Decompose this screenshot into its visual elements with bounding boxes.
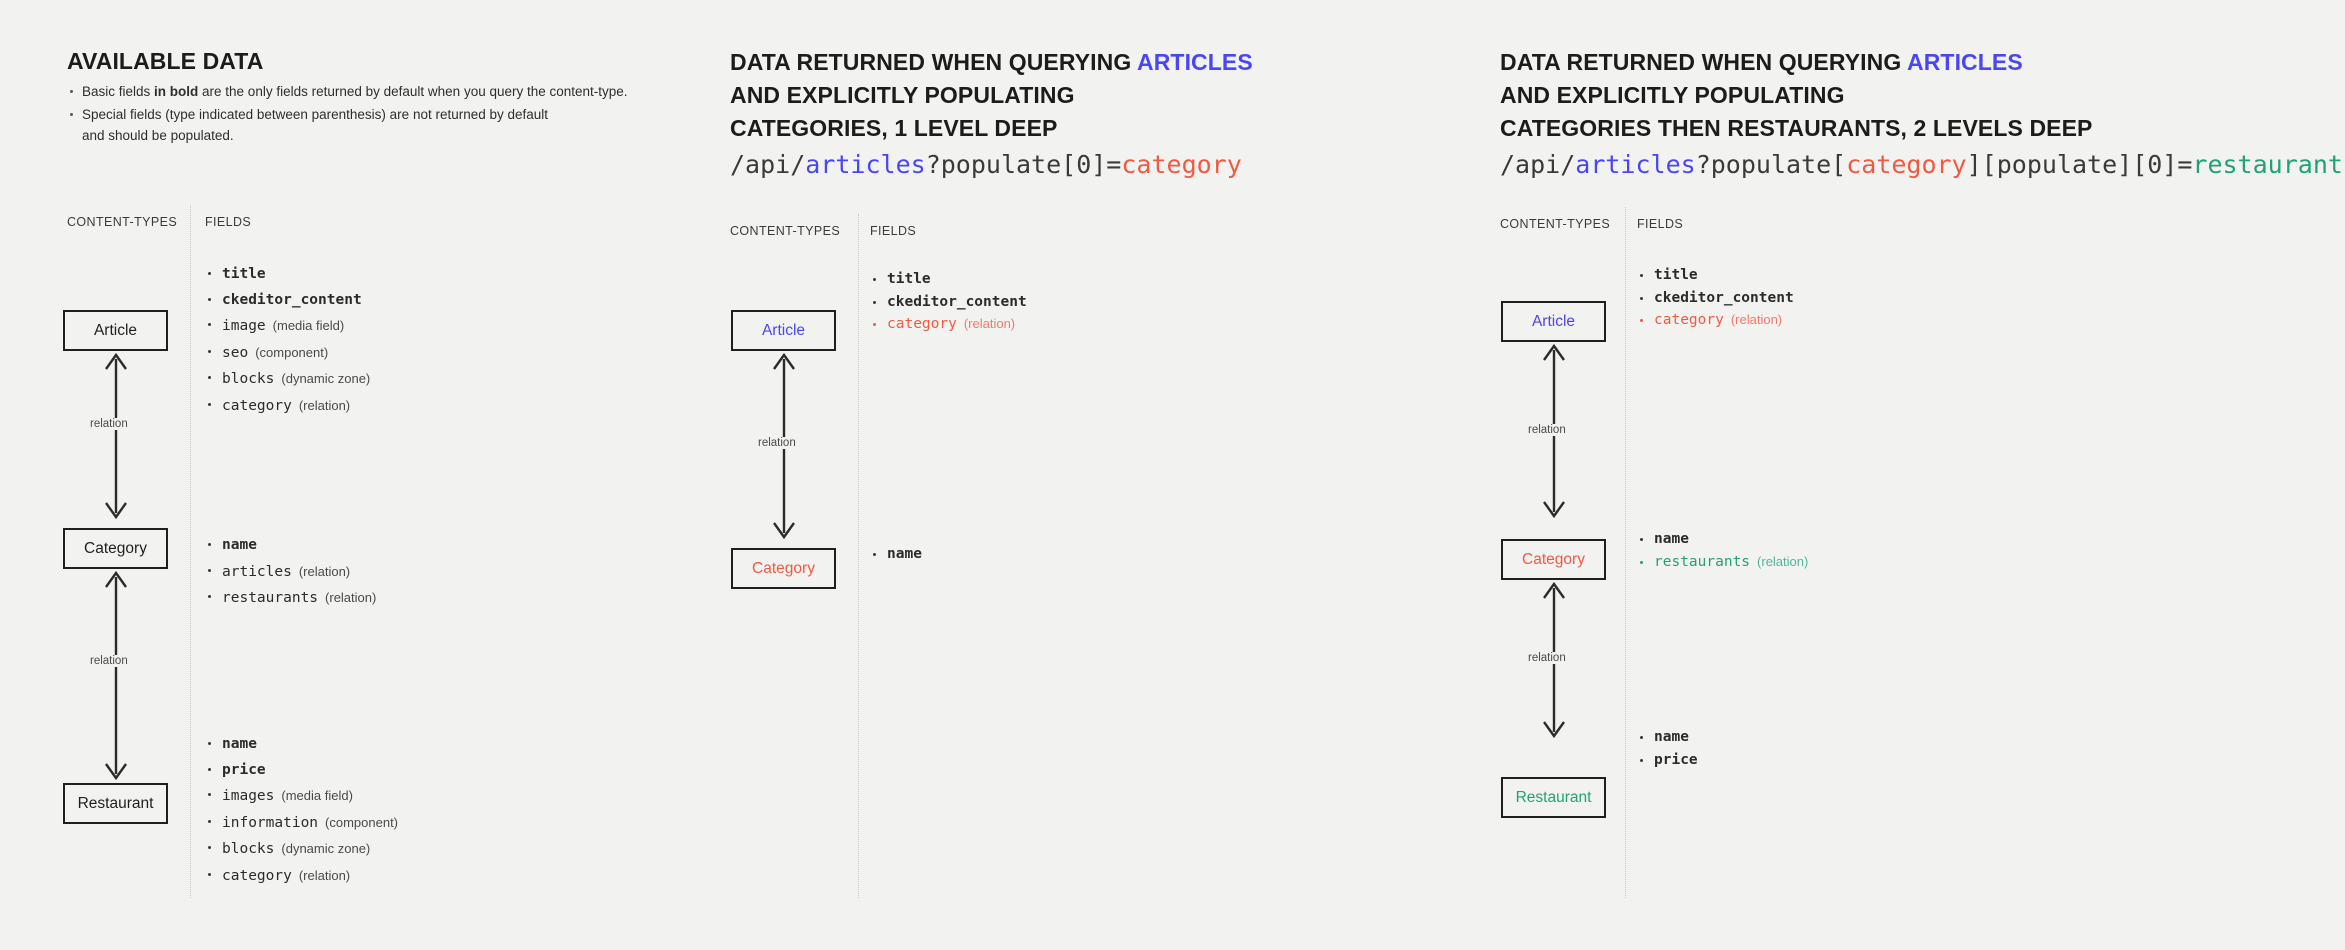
legend-bullet-list: Basic fields in bold are the only fields…: [68, 81, 768, 148]
field-type: (relation): [1731, 312, 1782, 327]
field-row: ckeditor_content: [871, 291, 1027, 314]
legend-bullet: Basic fields in bold are the only fields…: [68, 81, 768, 102]
field-type: (relation): [964, 316, 1015, 331]
field-row: blocks(dynamic zone): [206, 366, 370, 393]
field-row: title: [206, 262, 370, 288]
field-row: ckeditor_content: [206, 288, 370, 314]
relation-label: relation: [754, 437, 800, 449]
field-name: category: [222, 868, 292, 884]
heading-accent: ARTICLES: [1137, 49, 1253, 75]
field-row: category(relation): [1638, 309, 1794, 332]
field-type: (relation): [299, 868, 350, 883]
field-row: blocks(dynamic zone): [206, 836, 398, 863]
field-name: image: [222, 318, 266, 334]
field-type: (media field): [273, 318, 345, 333]
entity-box-label: Category: [1522, 551, 1585, 569]
field-list-category: name articles(relation) restaurants(rela…: [206, 533, 376, 612]
field-row: name: [206, 533, 376, 559]
legend-bullet-text-1: Basic fields in bold are the only fields…: [82, 84, 628, 99]
field-row: category(relation): [206, 863, 398, 890]
url-segment-populate-level2: restaurants: [2192, 150, 2345, 179]
heading-line-2: AND EXPLICITLY POPULATING: [1500, 79, 2092, 112]
relation-label: relation: [1524, 424, 1570, 436]
field-type: (relation): [325, 590, 376, 605]
field-name: category: [1654, 312, 1724, 328]
field-row: name: [1638, 528, 1808, 551]
heading-line-3: CATEGORIES, 1 LEVEL DEEP: [730, 112, 1253, 145]
field-row: price: [1638, 749, 1698, 772]
field-row: images(media field): [206, 783, 398, 810]
field-name: ckeditor_content: [222, 292, 362, 308]
entity-box-label: Article: [1532, 313, 1575, 331]
url-segment-query: ?populate[: [1696, 150, 1847, 179]
column-label-fields: FIELDS: [870, 224, 916, 238]
api-url: /api/articles?populate[0]=category: [730, 148, 1242, 182]
field-type: (component): [325, 815, 398, 830]
column-label-content-types: CONTENT-TYPES: [730, 224, 840, 238]
field-name: title: [222, 266, 266, 282]
entity-box-article[interactable]: Article: [1501, 301, 1606, 342]
entity-box-category[interactable]: Category: [731, 548, 836, 589]
field-list-article: title ckeditor_content image(media field…: [206, 262, 370, 419]
heading-line-3: CATEGORIES THEN RESTAURANTS, 2 LEVELS DE…: [1500, 112, 2092, 145]
entity-box-label: Category: [752, 560, 815, 578]
field-type: (component): [255, 345, 328, 360]
entity-box-label: Article: [762, 322, 805, 340]
field-row: name: [206, 732, 398, 758]
field-name: price: [222, 762, 266, 778]
field-type: (dynamic zone): [281, 841, 370, 856]
url-segment-query: ?populate[0]=: [926, 150, 1122, 179]
field-name: price: [1654, 752, 1698, 768]
field-row: image(media field): [206, 313, 370, 340]
field-list-category: name restaurants(relation): [1638, 528, 1808, 573]
field-row: seo(component): [206, 340, 370, 367]
field-type: (relation): [299, 398, 350, 413]
relation-arrow-article-category: [96, 351, 136, 521]
field-name: name: [222, 537, 257, 553]
entity-box-article[interactable]: Article: [731, 310, 836, 351]
field-list-restaurant: name price images(media field) informati…: [206, 732, 398, 889]
panel-available-data: AVAILABLE DATA Basic fields in bold are …: [0, 0, 855, 950]
field-row: price: [206, 758, 398, 784]
url-segment-populate-target: category: [1121, 150, 1241, 179]
field-type: (relation): [1757, 554, 1808, 569]
url-segment-collection: articles: [805, 150, 925, 179]
field-list-article: title ckeditor_content category(relation…: [1638, 264, 1794, 332]
field-name: restaurants: [222, 590, 318, 606]
field-row: title: [871, 268, 1027, 291]
heading-line-1: DATA RETURNED WHEN QUERYING ARTICLES: [1500, 46, 2092, 79]
relation-label: relation: [86, 418, 132, 430]
column-label-content-types: CONTENT-TYPES: [67, 215, 177, 229]
entity-box-label: Article: [94, 322, 137, 340]
field-list-restaurant: name price: [1638, 726, 1698, 771]
field-row: name: [1638, 726, 1698, 749]
heading-line-2: AND EXPLICITLY POPULATING: [730, 79, 1253, 112]
legend-bullet-continuation: and should be populated.: [68, 125, 768, 146]
entity-box-article[interactable]: Article: [63, 310, 168, 351]
panel-divider: [1625, 207, 1627, 898]
field-type: (relation): [299, 564, 350, 579]
field-row: restaurants(relation): [1638, 551, 1808, 574]
field-row: category(relation): [871, 313, 1027, 336]
heading-text: DATA RETURNED WHEN QUERYING: [1500, 49, 1907, 75]
field-name: title: [887, 271, 931, 287]
field-name: seo: [222, 345, 248, 361]
field-name: information: [222, 815, 318, 831]
entity-box-restaurant[interactable]: Restaurant: [63, 783, 168, 824]
field-name: name: [887, 546, 922, 562]
legend-bullet-text-2: Special fields (type indicated between p…: [82, 107, 548, 122]
panel-heading: DATA RETURNED WHEN QUERYING ARTICLES AND…: [730, 46, 1253, 145]
entity-box-category[interactable]: Category: [63, 528, 168, 569]
url-segment-base: /api/: [730, 150, 805, 179]
field-row: information(component): [206, 810, 398, 837]
panel-divider: [858, 214, 860, 898]
entity-box-label: Category: [84, 540, 147, 558]
url-segment-populate-level1: category: [1846, 150, 1966, 179]
legend-bullet-text-3: and should be populated.: [82, 128, 234, 143]
field-name: name: [1654, 531, 1689, 547]
heading-line-1: DATA RETURNED WHEN QUERYING ARTICLES: [730, 46, 1253, 79]
panel-divider: [190, 205, 192, 898]
field-row: title: [1638, 264, 1794, 287]
column-label-content-types: CONTENT-TYPES: [1500, 217, 1610, 231]
field-list-category: name: [871, 543, 922, 566]
entity-box-category[interactable]: Category: [1501, 539, 1606, 580]
url-segment-collection: articles: [1575, 150, 1695, 179]
field-name: restaurants: [1654, 554, 1750, 570]
field-name: articles: [222, 564, 292, 580]
field-list-article: title ckeditor_content category(relation…: [871, 268, 1027, 336]
url-segment-query-2: ][populate][0]=: [1967, 150, 2193, 179]
panel-populate-one-level: DATA RETURNED WHEN QUERYING ARTICLES AND…: [730, 0, 1500, 950]
field-row: category(relation): [206, 393, 370, 420]
relation-label: relation: [86, 655, 132, 667]
field-name: title: [1654, 267, 1698, 283]
heading-text: DATA RETURNED WHEN QUERYING: [730, 49, 1137, 75]
field-row: articles(relation): [206, 559, 376, 586]
field-name: ckeditor_content: [1654, 290, 1794, 306]
api-url: /api/articles?populate[category][populat…: [1500, 148, 2345, 182]
field-name: images: [222, 788, 274, 804]
column-label-fields: FIELDS: [1637, 217, 1683, 231]
field-name: category: [887, 316, 957, 332]
heading-line-1: AVAILABLE DATA: [67, 48, 263, 74]
legend-bullet: Special fields (type indicated between p…: [68, 104, 768, 125]
field-name: blocks: [222, 841, 274, 857]
field-row: ckeditor_content: [1638, 287, 1794, 310]
field-name: ckeditor_content: [887, 294, 1027, 310]
field-name: blocks: [222, 371, 274, 387]
panel-populate-two-levels: DATA RETURNED WHEN QUERYING ARTICLES AND…: [1500, 0, 2345, 950]
field-row: restaurants(relation): [206, 585, 376, 612]
field-name: name: [222, 736, 257, 752]
relation-arrow-category-restaurant: [96, 569, 136, 782]
url-segment-base: /api/: [1500, 150, 1575, 179]
field-name: category: [222, 398, 292, 414]
field-type: (media field): [281, 788, 353, 803]
panel-heading: DATA RETURNED WHEN QUERYING ARTICLES AND…: [1500, 46, 2092, 145]
field-row: name: [871, 543, 922, 566]
entity-box-restaurant[interactable]: Restaurant: [1501, 777, 1606, 818]
panel-heading: AVAILABLE DATA: [67, 45, 263, 78]
field-type: (dynamic zone): [281, 371, 370, 386]
entity-box-label: Restaurant: [78, 795, 154, 813]
column-label-fields: FIELDS: [205, 215, 251, 229]
entity-box-label: Restaurant: [1516, 789, 1592, 807]
field-name: name: [1654, 729, 1689, 745]
heading-accent: ARTICLES: [1907, 49, 2023, 75]
relation-label: relation: [1524, 652, 1570, 664]
